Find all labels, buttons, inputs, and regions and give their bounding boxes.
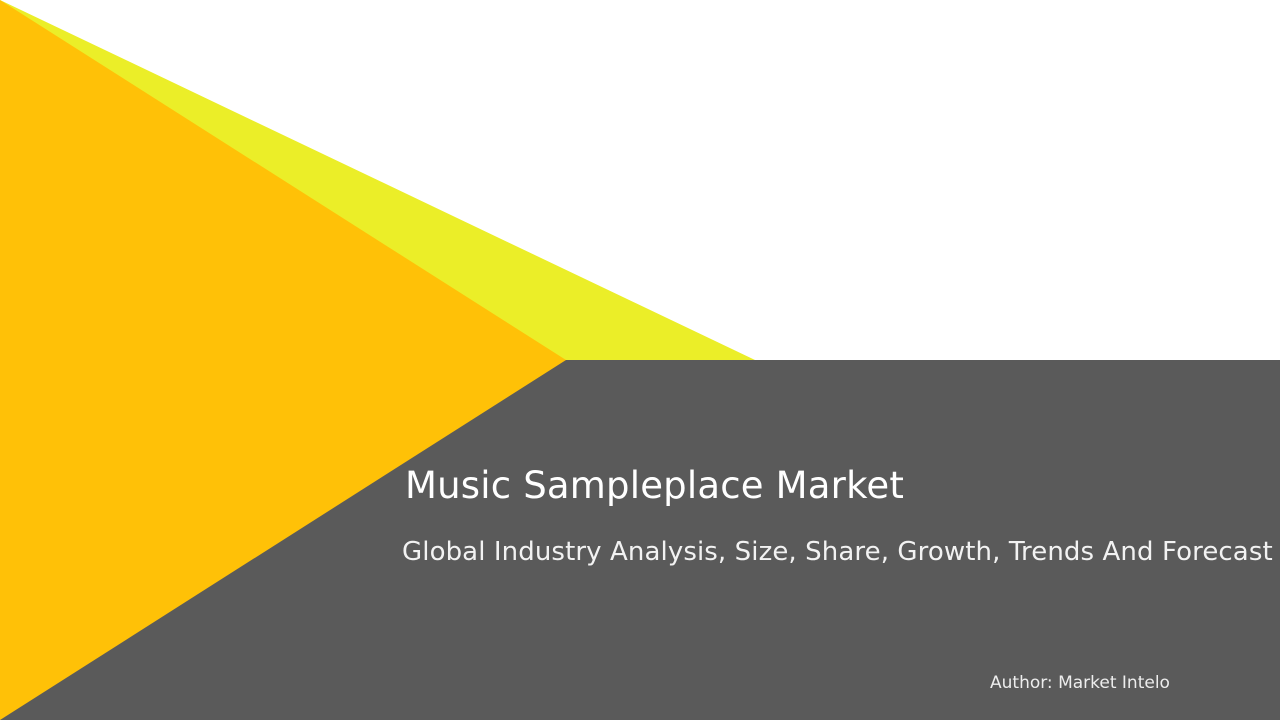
report-cover-page: Music Sampleplace Market Global Industry… (0, 0, 1280, 720)
page-title: Music Sampleplace Market (405, 465, 904, 506)
cover-text-block: Music Sampleplace Market Global Industry… (0, 360, 1280, 720)
author-label: Author: Market Intelo (990, 673, 1170, 693)
page-subtitle: Global Industry Analysis, Size, Share, G… (402, 538, 1273, 568)
